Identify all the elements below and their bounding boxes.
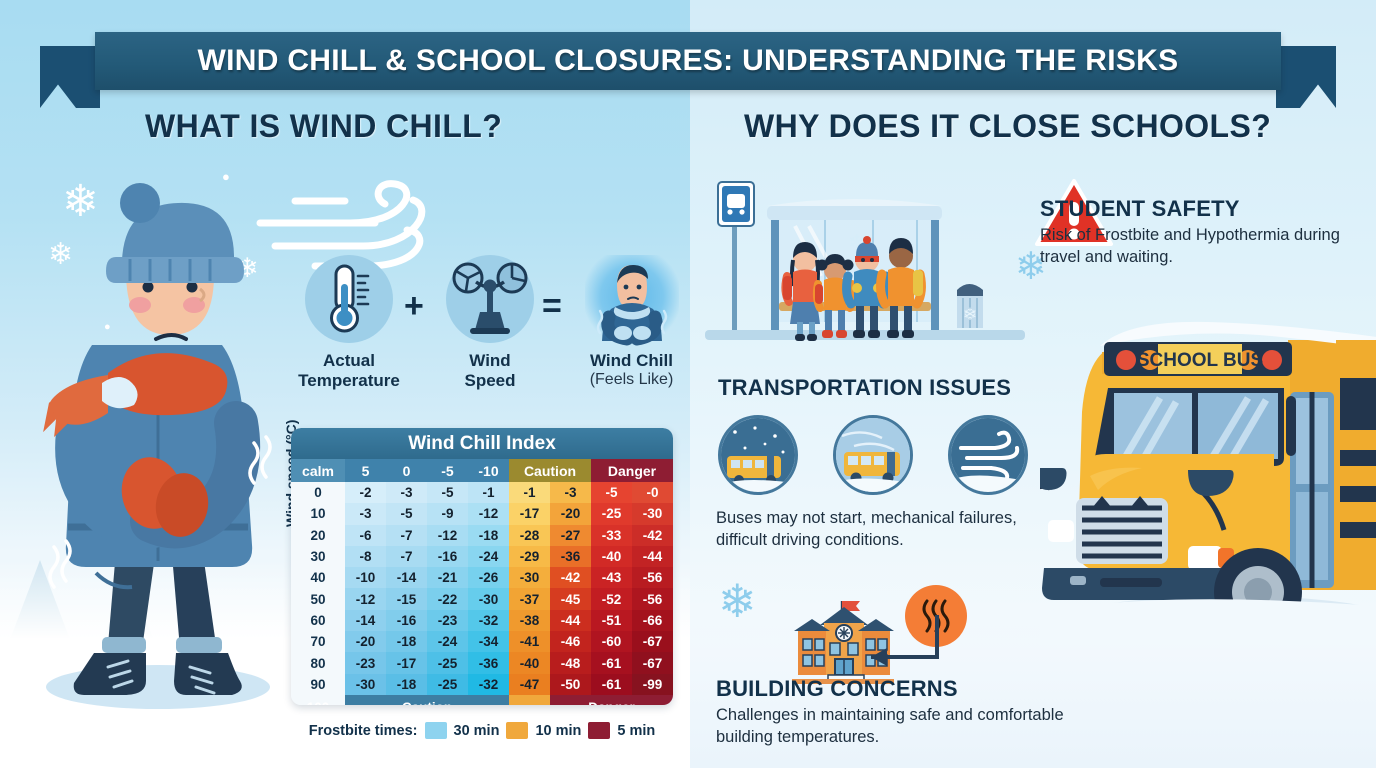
legend-swatch-10min — [506, 722, 528, 739]
table-row: 90-30-18-25-32-47-50-61-99 — [291, 674, 673, 695]
table-cell: -44 — [550, 610, 591, 631]
table-cell: -51 — [591, 610, 632, 631]
ribbon-banner: WIND CHILL & SCHOOL CLOSURES: UNDERSTAND… — [95, 32, 1281, 90]
reason-body: Challenges in maintaining safe and comfo… — [716, 705, 1086, 749]
table-cell: -61 — [591, 652, 632, 673]
frostbite-legend: Frostbite times: 30 min 10 min 5 min — [291, 722, 673, 739]
bus-in-snow-icon — [718, 415, 798, 495]
table-cell: -18 — [386, 674, 427, 695]
table-cell: -17 — [386, 652, 427, 673]
table-cell: -12 — [468, 503, 509, 524]
reason-student-safety: STUDENT SAFETY Risk of Frostbite and Hyp… — [1040, 196, 1340, 269]
table-cell: -7 — [386, 546, 427, 567]
table-col-header: -5 — [427, 459, 468, 482]
table-cell: -61 — [591, 674, 632, 695]
table-cell: -24 — [427, 631, 468, 652]
table-cell: -38 — [509, 610, 550, 631]
infographic-canvas: WIND CHILL & SCHOOL CLOSURES: UNDERSTAND… — [0, 0, 1376, 768]
table-row-label: 40 — [291, 567, 345, 588]
table-cell: -5 — [427, 482, 468, 503]
formula-plus-operator: + — [404, 287, 424, 326]
table-cell: -3 — [386, 482, 427, 503]
reason-title: BUILDING CONCERNS — [716, 676, 1086, 702]
reason-body: Risk of Frostbite and Hypothermia during… — [1040, 225, 1340, 269]
table-cell: -16 — [386, 610, 427, 631]
table-cell: -52 — [591, 588, 632, 609]
table-cell: -14 — [386, 567, 427, 588]
reason-body: Buses may not start, mechanical failures… — [716, 508, 1046, 552]
table-cell: -67 — [632, 631, 673, 652]
table-cell: -45 — [550, 588, 591, 609]
table-cell: -14 — [345, 610, 386, 631]
table-cell: -56 — [632, 588, 673, 609]
table-cell: -30 — [509, 567, 550, 588]
table-cell: -3 — [550, 482, 591, 503]
table-cell: -37 — [509, 588, 550, 609]
table-cell: -33 — [591, 525, 632, 546]
thermometer-icon-wrap — [305, 255, 393, 343]
right-section-header: WHY DOES IT CLOSE SCHOOLS? — [744, 108, 1271, 145]
shivering-person-icon — [30, 175, 290, 720]
wind-chill-formula: Actual Temperature + Wi — [290, 255, 685, 415]
table-cell: -30 — [632, 503, 673, 524]
table-row-label: 70 — [291, 631, 345, 652]
table-cell: -34 — [468, 631, 509, 652]
table-row-label: 0 — [291, 482, 345, 503]
table-row-label: 20 — [291, 525, 345, 546]
table-row-label: 50 — [291, 588, 345, 609]
table-row-label: 80 — [291, 652, 345, 673]
table-row-label: 30 — [291, 546, 345, 567]
wind-chill-person-icon-wrap — [585, 255, 679, 347]
table-cell: -25 — [591, 503, 632, 524]
table-cell: -66 — [632, 610, 673, 631]
table-title: Wind Chill Index — [291, 428, 673, 459]
table-cell: -21 — [427, 567, 468, 588]
table-cell: -30 — [468, 588, 509, 609]
table-cell: -32 — [468, 610, 509, 631]
table-cell: -10 — [345, 567, 386, 588]
table-cell: -20 — [550, 503, 591, 524]
table-cell: -1 — [468, 482, 509, 503]
table-cell: -3 — [345, 503, 386, 524]
snowflake-icon: ❄ — [718, 578, 757, 624]
table-cell: -8 — [345, 546, 386, 567]
anemometer-icon — [452, 262, 528, 336]
legend-swatch-5min — [588, 722, 610, 739]
table-cell: -99 — [632, 674, 673, 695]
table-row-label: 60 — [291, 610, 345, 631]
reason-building-concerns: BUILDING CONCERNS Challenges in maintain… — [716, 676, 1086, 749]
formula-result-sub: (Feels Like) — [574, 371, 689, 389]
formula-term1-line1: Actual — [323, 351, 375, 370]
table-cell: -30 — [345, 674, 386, 695]
title-ribbon: WIND CHILL & SCHOOL CLOSURES: UNDERSTAND… — [40, 18, 1336, 90]
table-cell: -40 — [509, 652, 550, 673]
table-row: 60-14-16-23-32-38-44-51-66 — [291, 610, 673, 631]
reason-transportation-body: Buses may not start, mechanical failures… — [716, 508, 1046, 552]
table-row: 80-23-17-25-36-40-48-61-67 — [291, 652, 673, 673]
table-row: 10-3-5-9-12-17-20-25-30 — [291, 503, 673, 524]
bus-sign-text: SCHOOL BUS — [1137, 350, 1263, 371]
legend-title: Frostbite times: — [309, 723, 418, 739]
table-cell: -50 — [550, 674, 591, 695]
reason-transportation-issues: TRANSPORTATION ISSUES — [718, 375, 1078, 401]
table-header-row: calm50-5-10CautionDanger — [291, 459, 673, 482]
table-cell: -42 — [632, 525, 673, 546]
table-cell: -23 — [427, 610, 468, 631]
table-cell: -5 — [591, 482, 632, 503]
reason-title: TRANSPORTATION ISSUES — [718, 375, 1078, 401]
wind-gust-icon — [948, 415, 1028, 495]
table-cell: -5 — [386, 503, 427, 524]
formula-term2-line2: Speed — [464, 371, 515, 390]
anemometer-icon-wrap — [446, 255, 534, 343]
table-cell: -41 — [509, 631, 550, 652]
table-cell: -18 — [468, 525, 509, 546]
table-row: 40-10-14-21-26-30-42-43-56 — [291, 567, 673, 588]
table-cell: -29 — [509, 546, 550, 567]
table-cell: -36 — [550, 546, 591, 567]
transportation-icon-row — [718, 415, 1028, 495]
table-row-label: 100 — [291, 695, 345, 705]
thermometer-icon — [318, 262, 380, 336]
table-cell: -67 — [632, 652, 673, 673]
table-col-header: 0 — [386, 459, 427, 482]
table-footer-row: 100CautionDanger — [291, 695, 673, 705]
legend-swatch-30min — [425, 722, 447, 739]
table-cell: -12 — [345, 588, 386, 609]
table-cell: -43 — [591, 567, 632, 588]
table-cell: -25 — [427, 652, 468, 673]
table-row-label: 90 — [291, 674, 345, 695]
legend-label-30min: 30 min — [454, 723, 500, 739]
table-caution-banner: Caution — [345, 695, 509, 705]
legend-label-5min: 5 min — [617, 723, 655, 739]
page-title: WIND CHILL & SCHOOL CLOSURES: UNDERSTAND… — [198, 44, 1179, 78]
table-col-header: Caution — [509, 459, 591, 482]
table-col-header: -10 — [468, 459, 509, 482]
table-cell: -26 — [468, 567, 509, 588]
school-bus-illustration: SCHOOL BUS — [1040, 300, 1376, 645]
table-cell: -46 — [550, 631, 591, 652]
wind-chill-table: calm50-5-10CautionDanger 0-2-3-5-1-1-3-5… — [291, 459, 673, 705]
bus-shelter-scene: ❄ — [705, 172, 1025, 347]
table-col-header: Danger — [591, 459, 673, 482]
table-cell: -24 — [468, 546, 509, 567]
table-cell: -15 — [386, 588, 427, 609]
table-cell: -20 — [345, 631, 386, 652]
table-cell: -40 — [591, 546, 632, 567]
table-cell: -42 — [550, 567, 591, 588]
table-cell: -60 — [591, 631, 632, 652]
table-row: 50-12-15-22-30-37-45-52-56 — [291, 588, 673, 609]
table-cell: -27 — [550, 525, 591, 546]
table-cell: -6 — [345, 525, 386, 546]
table-row: 0-2-3-5-1-1-3-5-0 — [291, 482, 673, 503]
arrow-to-school-icon — [855, 615, 945, 675]
table-row: 30-8-7-16-24-29-36-40-44 — [291, 546, 673, 567]
table-row: 20-6-7-12-18-28-27-33-42 — [291, 525, 673, 546]
shivering-person-small-icon — [593, 259, 671, 347]
table-cell: -56 — [632, 567, 673, 588]
table-cell: -36 — [468, 652, 509, 673]
table-cell: -23 — [345, 652, 386, 673]
formula-equals-operator: = — [542, 287, 562, 326]
table-cell: -25 — [427, 674, 468, 695]
bus-driving-icon — [833, 415, 913, 495]
table-col-header: calm — [291, 459, 345, 482]
table-danger-banner: Danger — [550, 695, 673, 705]
left-section-header: WHAT IS WIND CHILL? — [145, 108, 502, 145]
table-cell: -17 — [509, 503, 550, 524]
table-cell: -2 — [345, 482, 386, 503]
table-cell: -16 — [427, 546, 468, 567]
table-cell: -7 — [386, 525, 427, 546]
table-cell: -44 — [632, 546, 673, 567]
table-cell: -22 — [427, 588, 468, 609]
table-amber-spacer — [509, 695, 550, 705]
table-cell: -28 — [509, 525, 550, 546]
wind-chill-table-card: Wind Chill Index calm50-5-10CautionDange… — [291, 428, 673, 705]
table-row-label: 10 — [291, 503, 345, 524]
formula-term1-line2: Temperature — [298, 371, 400, 390]
svg-text:❄: ❄ — [963, 305, 977, 324]
table-cell: -48 — [550, 652, 591, 673]
legend-label-10min: 10 min — [535, 723, 581, 739]
table-col-header: 5 — [345, 459, 386, 482]
table-cell: -9 — [427, 503, 468, 524]
reason-title: STUDENT SAFETY — [1040, 196, 1340, 222]
table-cell: -0 — [632, 482, 673, 503]
table-cell: -32 — [468, 674, 509, 695]
table-cell: -47 — [509, 674, 550, 695]
formula-result-label: Wind Chill — [590, 351, 673, 370]
formula-term2-line1: Wind — [469, 351, 510, 370]
table-cell: -12 — [427, 525, 468, 546]
table-row: 70-20-18-24-34-41-46-60-67 — [291, 631, 673, 652]
table-cell: -1 — [509, 482, 550, 503]
table-cell: -18 — [386, 631, 427, 652]
